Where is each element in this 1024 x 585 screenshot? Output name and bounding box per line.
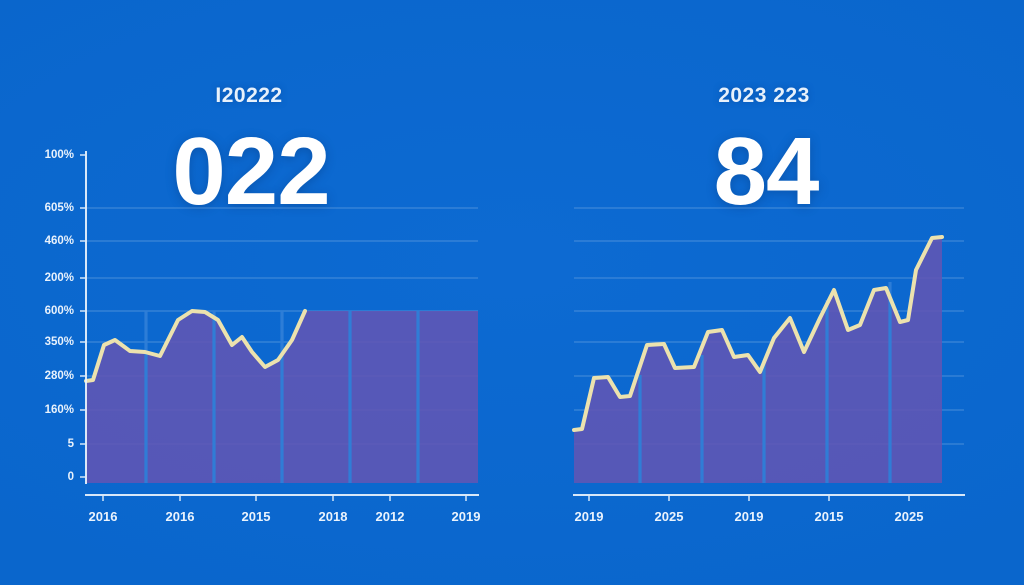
left-ytick-0: 100%: [45, 149, 74, 161]
right-xtick-3: 2015: [815, 509, 844, 524]
left-ytick-7: 160%: [45, 404, 74, 416]
left-xtick-2: 2015: [242, 509, 271, 524]
left-ytick-5: 350%: [45, 336, 74, 348]
left-xtick-5: 2019: [452, 509, 481, 524]
left-xtick-1: 2016: [166, 509, 195, 524]
chart-panel-left: I20222 022: [0, 0, 512, 585]
right-area-fill: [574, 237, 942, 483]
left-ytick-3: 200%: [45, 272, 74, 284]
right-x-tick-labels: 2019 2025 2019 2015 2025: [575, 509, 924, 524]
left-x-tick-labels: 2016 2016 2015 2018 2012 2019: [89, 509, 481, 524]
left-ytick-8: 5: [68, 438, 75, 450]
left-y-tick-labels: 100% 605% 460% 200% 600% 350% 280% 160% …: [45, 149, 75, 483]
right-xtick-2: 2019: [735, 509, 764, 524]
right-chart-plot: 2019 2025 2019 2015 2025: [512, 0, 1024, 585]
left-ytick-9: 0: [68, 471, 74, 483]
right-xtick-0: 2019: [575, 509, 604, 524]
left-ytick-1: 605%: [45, 202, 74, 214]
right-xtick-4: 2025: [895, 509, 924, 524]
chart-panel-stage: I20222 022: [0, 0, 1024, 585]
left-ytick-6: 280%: [45, 370, 74, 382]
right-xtick-1: 2025: [655, 509, 684, 524]
left-ytick-2: 460%: [45, 235, 74, 247]
left-xtick-4: 2012: [376, 509, 405, 524]
chart-panel-right: 2023 223 84: [512, 0, 1024, 585]
left-xtick-3: 2018: [319, 509, 348, 524]
left-chart-plot: 100% 605% 460% 200% 600% 350% 280% 160% …: [0, 0, 512, 585]
left-xtick-0: 2016: [89, 509, 118, 524]
left-ytick-4: 600%: [45, 305, 74, 317]
